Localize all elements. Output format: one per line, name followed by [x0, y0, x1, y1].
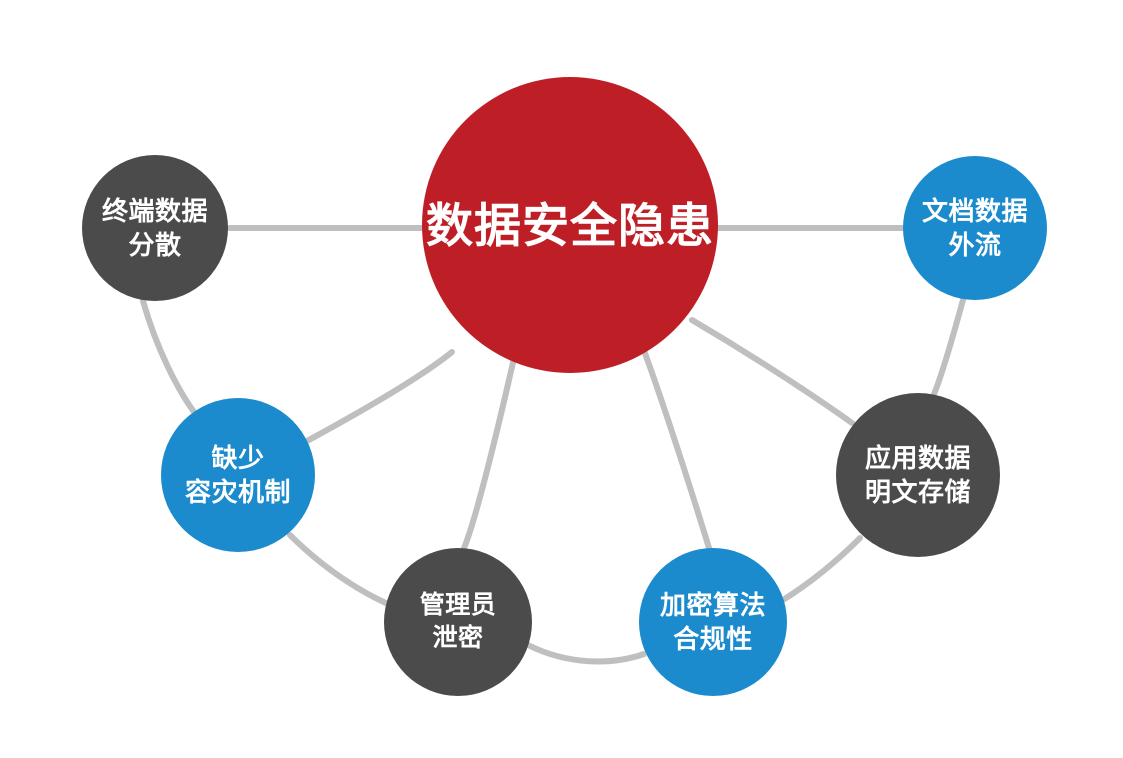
- node-label-line: 管理员: [420, 589, 497, 622]
- center-node-label: 数据安全隐患: [426, 202, 714, 249]
- node-label-line: 明文存储: [865, 475, 971, 509]
- edge-center-admin-leak: [464, 358, 514, 548]
- node-label-line: 缺少: [211, 441, 264, 475]
- node-label-line: 文档数据: [922, 194, 1028, 228]
- node-admin-leak[interactable]: 管理员 泄密: [384, 548, 532, 696]
- edge-encryption-compliance-app-plaintext: [783, 538, 860, 600]
- node-terminal-data[interactable]: 终端数据 分散: [82, 155, 228, 301]
- node-label-line: 容灾机制: [185, 475, 291, 509]
- node-label-line: 加密算法: [660, 588, 766, 622]
- diagram-canvas: 数据安全隐患 终端数据 分散 文档数据 外流 缺少 容灾机制 管理员 泄密 加密…: [0, 0, 1123, 758]
- node-label-line: 应用数据: [865, 441, 971, 475]
- node-label-line: 合规性: [673, 622, 753, 656]
- node-label-line: 泄密: [432, 622, 483, 655]
- edge-disaster-recovery-admin-leak: [290, 535, 388, 604]
- edge-disaster-recovery-center: [307, 352, 452, 441]
- node-app-plaintext[interactable]: 应用数据 明文存储: [836, 393, 1000, 557]
- node-encryption-compliance[interactable]: 加密算法 合规性: [639, 548, 787, 696]
- edge-terminal-data-disaster-recovery: [143, 301, 194, 412]
- node-label-line: 终端数据: [102, 194, 208, 228]
- node-disaster-recovery[interactable]: 缺少 容灾机制: [161, 398, 315, 552]
- node-center-data-security-risk[interactable]: 数据安全隐患: [422, 77, 718, 373]
- edge-admin-leak-encryption-compliance: [528, 645, 644, 661]
- edge-center-app-plaintext: [692, 320, 852, 423]
- node-label-line: 分散: [128, 228, 181, 262]
- edge-center-encryption-compliance: [642, 345, 709, 548]
- node-document-data[interactable]: 文档数据 外流: [903, 156, 1047, 300]
- node-label-line: 外流: [948, 228, 1001, 262]
- edge-document-data-app-plaintext: [934, 300, 963, 394]
